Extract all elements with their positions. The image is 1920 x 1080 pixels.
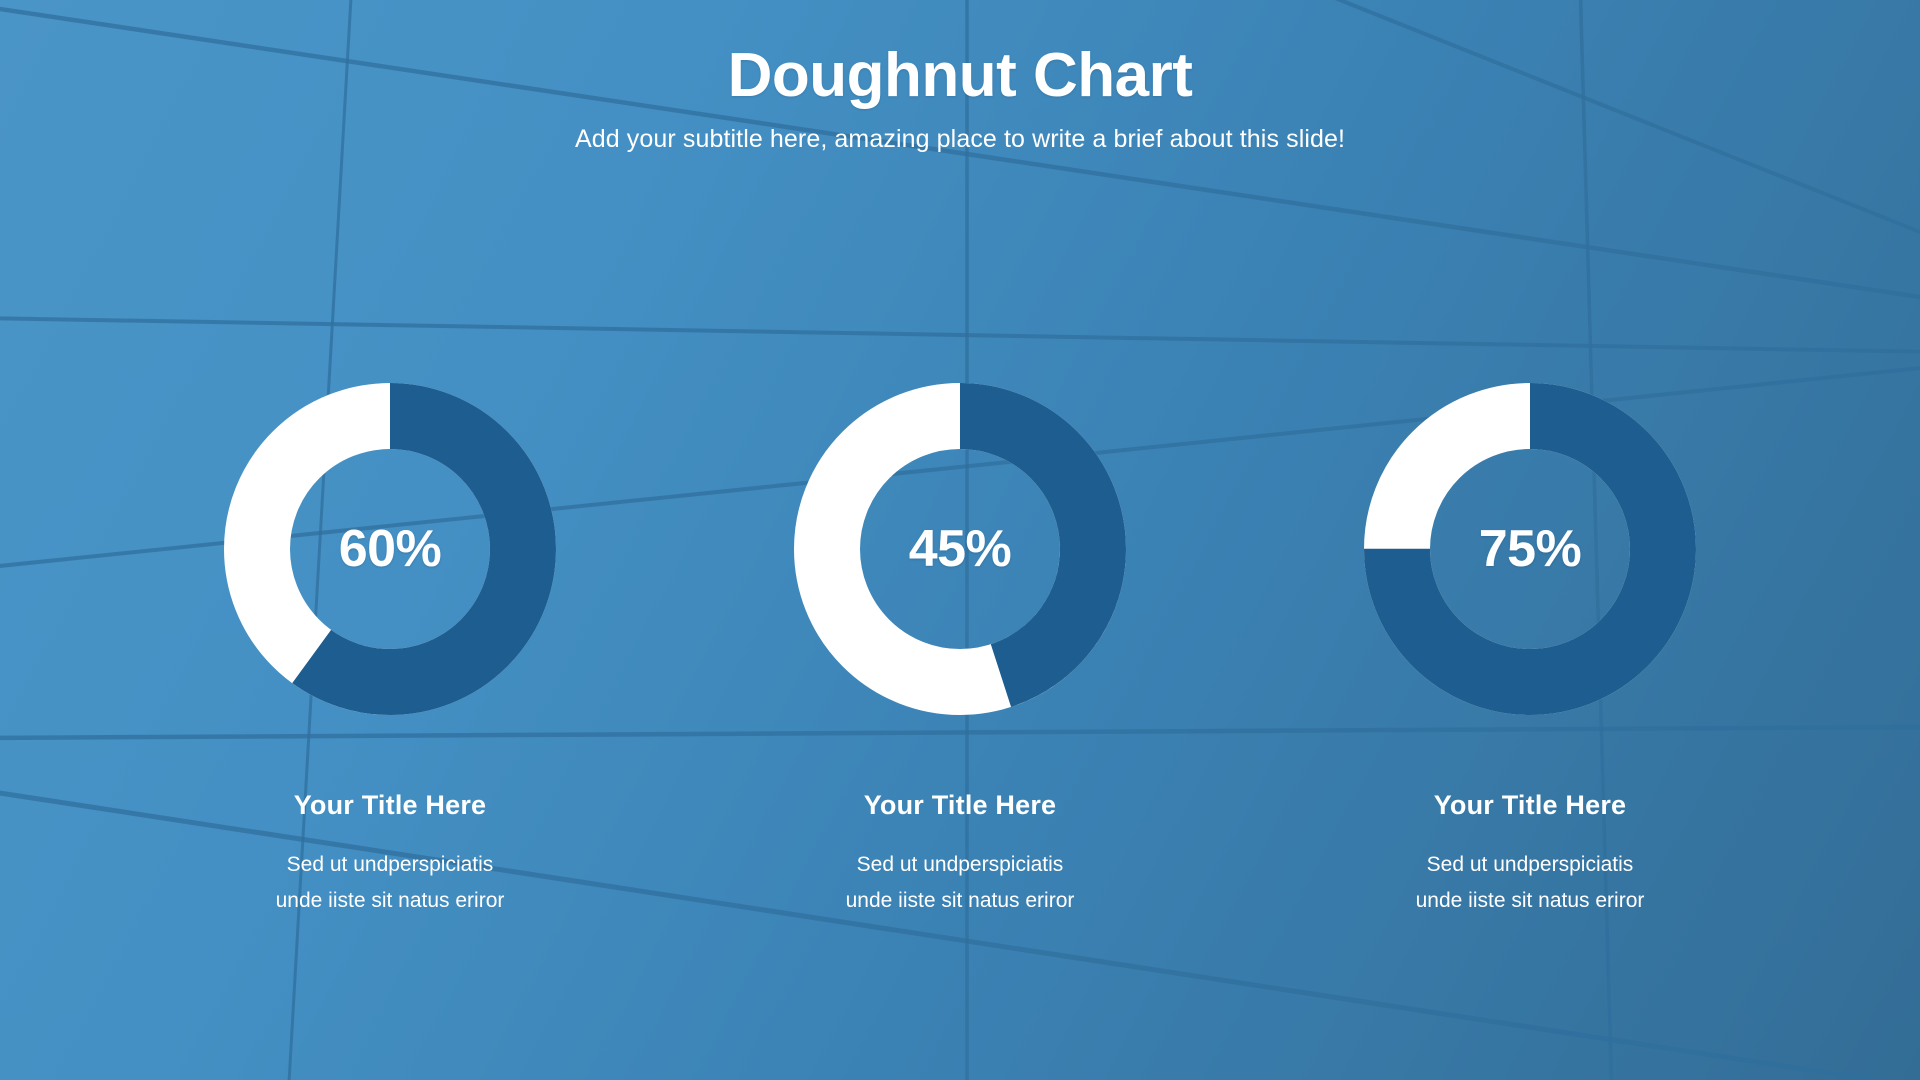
column-title-3: Your Title Here: [1434, 790, 1627, 821]
slide-canvas: Doughnut Chart Add your subtitle here, a…: [0, 0, 1920, 1080]
column-description-2: Sed ut undperspiciatis unde iiste sit na…: [846, 847, 1075, 919]
column-description-line1-2: Sed ut undperspiciatis: [846, 847, 1075, 883]
doughnut-column-3: 75% Your Title Here Sed ut undperspiciat…: [1245, 383, 1815, 919]
doughnut-chart-2[interactable]: 45%: [794, 383, 1126, 715]
doughnut-svg-1: [224, 383, 556, 715]
column-description-line2-3: unde iiste sit natus eriror: [1416, 883, 1645, 919]
page-subtitle: Add your subtitle here, amazing place to…: [0, 125, 1920, 154]
doughnut-column-2: 45% Your Title Here Sed ut undperspiciat…: [675, 383, 1245, 919]
column-description-line1-3: Sed ut undperspiciatis: [1416, 847, 1645, 883]
page-title: Doughnut Chart: [0, 40, 1920, 111]
doughnut-columns: 60% Your Title Here Sed ut undperspiciat…: [0, 383, 1920, 919]
column-title-1: Your Title Here: [294, 790, 487, 821]
column-description-line2-1: unde iiste sit natus eriror: [276, 883, 505, 919]
slide-content: Doughnut Chart Add your subtitle here, a…: [0, 0, 1920, 1080]
column-description-1: Sed ut undperspiciatis unde iiste sit na…: [276, 847, 505, 919]
doughnut-chart-1[interactable]: 60%: [224, 383, 556, 715]
doughnut-column-1: 60% Your Title Here Sed ut undperspiciat…: [105, 383, 675, 919]
doughnut-chart-3[interactable]: 75%: [1364, 383, 1696, 715]
doughnut-svg-2: [794, 383, 1126, 715]
slide-header: Doughnut Chart Add your subtitle here, a…: [0, 0, 1920, 154]
column-description-3: Sed ut undperspiciatis unde iiste sit na…: [1416, 847, 1645, 919]
column-description-line1-1: Sed ut undperspiciatis: [276, 847, 505, 883]
column-title-2: Your Title Here: [864, 790, 1057, 821]
doughnut-svg-3: [1364, 383, 1696, 715]
column-description-line2-2: unde iiste sit natus eriror: [846, 883, 1075, 919]
